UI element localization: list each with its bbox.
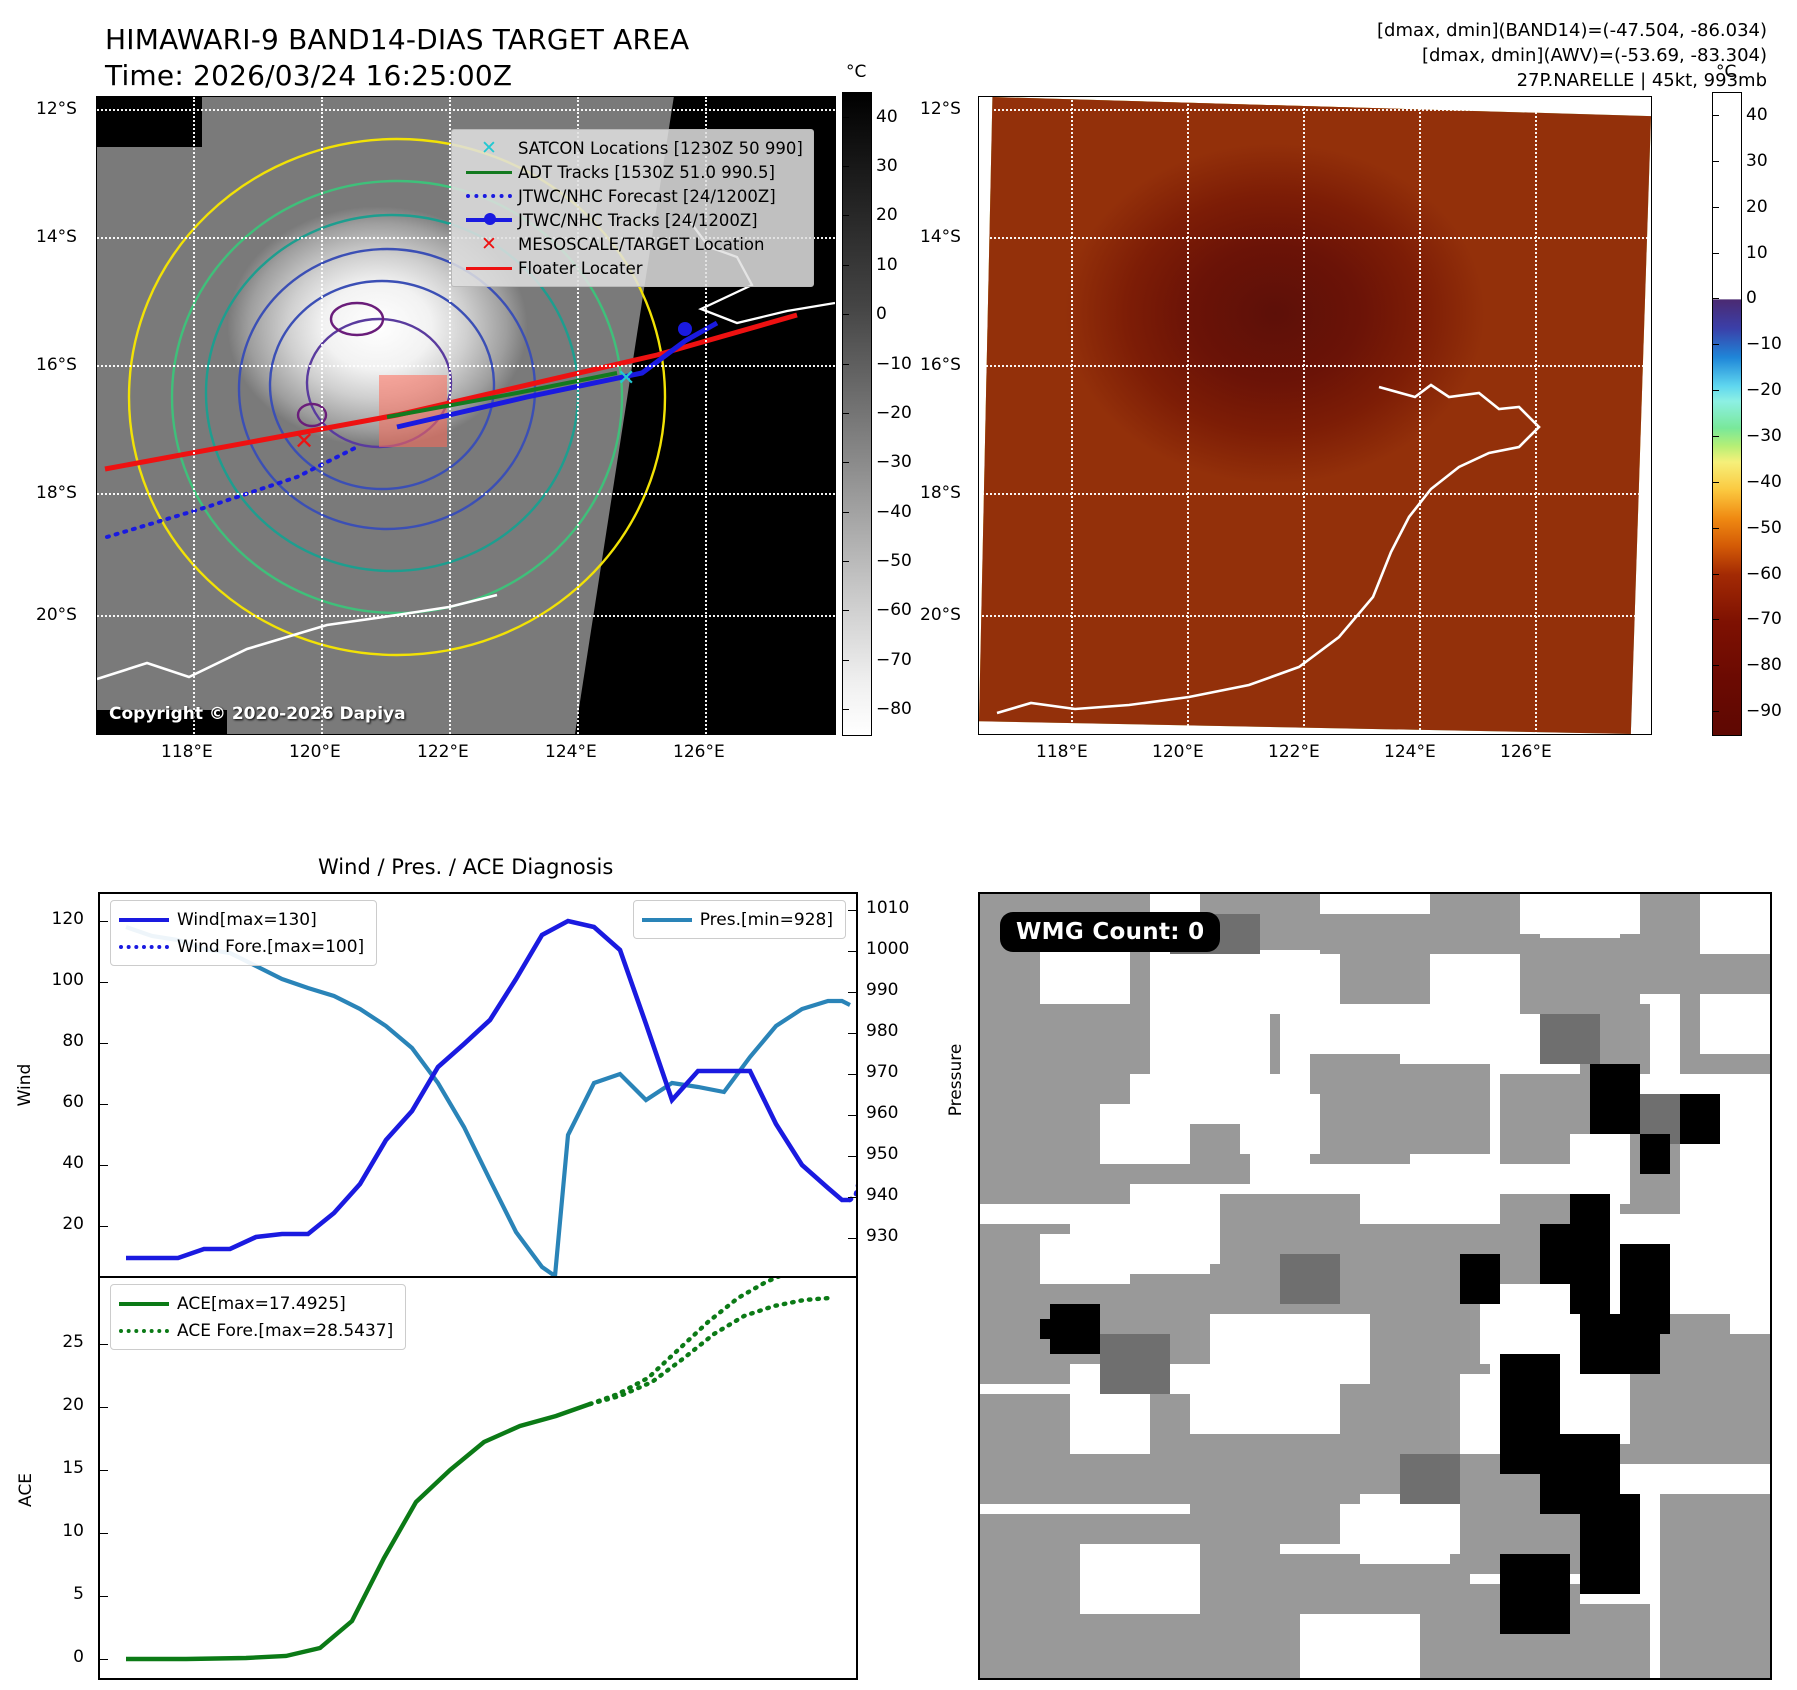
awv-cb-label: 40	[1746, 105, 1768, 125]
ir-cb-label: 0	[876, 304, 887, 324]
ace-line-icon	[119, 1302, 177, 1306]
ir-cb-label: 30	[876, 156, 898, 176]
legend-item-jtwc-forecast: JTWC/NHC Forecast [24/1200Z]	[460, 184, 803, 208]
awv-lon-tick-122e: 122°E	[1268, 742, 1320, 762]
ace-axis-label: ACE	[16, 1462, 36, 1518]
legend-item-floater: Floater Locater	[460, 256, 803, 280]
awv-cb-label: 0	[1746, 288, 1757, 308]
satcon-marker-icon: ✕	[460, 139, 518, 158]
pressure-line-icon	[642, 918, 700, 922]
awv-cb-label: −40	[1746, 472, 1782, 492]
svg-text:✕: ✕	[294, 427, 314, 455]
legend-label: SATCON Locations [1230Z 50 990]	[518, 139, 803, 158]
ir-cb-label: −60	[876, 600, 912, 620]
pres-ytick-1010: 1010	[866, 898, 909, 918]
awv-cb-label: −10	[1746, 334, 1782, 354]
ace-ytick-10: 10	[38, 1521, 84, 1541]
legend-label: ACE[max=17.4925]	[177, 1294, 346, 1314]
legend-label: Floater Locater	[518, 259, 643, 278]
awv-enhanced-map[interactable]	[978, 96, 1652, 735]
legend-item-wind-forecast: Wind Fore.[max=100]	[119, 933, 364, 960]
ace-forecast-dotted-icon	[119, 1329, 177, 1333]
awv-cb-label: 10	[1746, 243, 1768, 263]
wind-ytick-80: 80	[38, 1031, 84, 1051]
awv-cb-label: −70	[1746, 609, 1782, 629]
ir-cb-label: −30	[876, 452, 912, 472]
awv-cb-label: −50	[1746, 518, 1782, 538]
ir-colorbar-units: °C	[846, 62, 866, 82]
awv-gridline-lon-124e	[1419, 97, 1421, 734]
awv-coastline	[979, 97, 1651, 734]
awv-gridline-lat-14s	[979, 237, 1651, 239]
dmax-dmin-awv: [dmax, dmin](AWV)=(-53.69, -83.304)	[1377, 43, 1767, 68]
copyright-text: Copyright © 2020-2026 Dapiya	[109, 704, 406, 724]
pressure-legend: Pres.[min=928]	[633, 900, 846, 939]
ir-gridline-lat-18s	[97, 493, 835, 495]
pres-ytick-980: 980	[866, 1021, 898, 1041]
ir-cb-label: 20	[876, 205, 898, 225]
pres-ytick-960: 960	[866, 1103, 898, 1123]
ir-lon-tick-122e: 122°E	[417, 742, 469, 762]
ace-ytick-0: 0	[38, 1647, 84, 1667]
legend-item-ace: ACE[max=17.4925]	[119, 1290, 393, 1317]
ir-lat-tick-18s: 18°S	[36, 483, 77, 503]
ace-ytick-25: 25	[38, 1332, 84, 1352]
awv-lon-tick-126e: 126°E	[1500, 742, 1552, 762]
awv-gridline-lat-20s	[979, 615, 1651, 617]
legend-item-wind: Wind[max=130]	[119, 906, 364, 933]
ir-gridline-lat-16s	[97, 365, 835, 367]
legend-label: Wind[max=130]	[177, 910, 317, 930]
ir-cb-label: −10	[876, 354, 912, 374]
ir-gridline-lon-118e	[193, 97, 195, 734]
awv-lat-tick-18s: 18°S	[920, 483, 961, 503]
adt-line-icon	[460, 171, 518, 174]
ir-lat-tick-12s: 12°S	[36, 99, 77, 119]
ir-gridline-lat-12s	[97, 109, 835, 111]
legend-label: ADT Tracks [1530Z 51.0 990.5]	[518, 163, 775, 182]
ir-colorbar-ticks: 40 30 20 10 0 −10 −20 −30 −40 −50 −60 −7…	[842, 92, 962, 734]
ir-cb-label: −20	[876, 403, 912, 423]
map-legend: ✕ SATCON Locations [1230Z 50 990] ADT Tr…	[451, 129, 814, 287]
legend-label: Wind Fore.[max=100]	[177, 937, 364, 957]
ir-lon-tick-124e: 124°E	[545, 742, 597, 762]
header-stats: [dmax, dmin](BAND14)=(-47.504, -86.034) …	[1377, 18, 1767, 93]
pres-ytick-1000: 1000	[866, 939, 909, 959]
legend-label: JTWC/NHC Tracks [24/1200Z]	[518, 211, 758, 230]
awv-lat-tick-20s: 20°S	[920, 605, 961, 625]
awv-lat-tick-16s: 16°S	[920, 355, 961, 375]
awv-cb-label: 30	[1746, 151, 1768, 171]
ir-cb-label: −70	[876, 650, 912, 670]
legend-label: ACE Fore.[max=28.5437]	[177, 1321, 393, 1341]
pres-ytick-930: 930	[866, 1226, 898, 1246]
awv-lon-tick-118e: 118°E	[1036, 742, 1088, 762]
pres-ytick-970: 970	[866, 1062, 898, 1082]
wind-forecast-dotted-icon	[119, 945, 177, 949]
ace-ytick-15: 15	[38, 1458, 84, 1478]
ace-ytick-20: 20	[38, 1395, 84, 1415]
ace-chart[interactable]: ACE[max=17.4925] ACE Fore.[max=28.5437]	[98, 1276, 858, 1680]
legend-label: MESOSCALE/TARGET Location	[518, 235, 764, 254]
ir-lat-tick-20s: 20°S	[36, 605, 77, 625]
dmax-dmin-band14: [dmax, dmin](BAND14)=(-47.504, -86.034)	[1377, 18, 1767, 43]
wmg-imagery	[980, 894, 1770, 1678]
awv-gridline-lat-16s	[979, 365, 1651, 367]
title-line-2: Time: 2026/03/24 16:25:00Z	[105, 58, 689, 94]
ir-cb-label: −40	[876, 502, 912, 522]
legend-item-mesoscale: ✕ MESOSCALE/TARGET Location	[460, 232, 803, 256]
wind-pressure-chart[interactable]: Wind[max=130] Wind Fore.[max=100] Pres.[…	[98, 892, 858, 1278]
title-line-1: HIMAWARI-9 BAND14-DIAS TARGET AREA	[105, 22, 689, 58]
ace-ytick-5: 5	[38, 1584, 84, 1604]
legend-item-satcon: ✕ SATCON Locations [1230Z 50 990]	[460, 136, 803, 160]
legend-item-jtwc-tracks: JTWC/NHC Tracks [24/1200Z]	[460, 208, 803, 232]
pressure-axis-label: Pressure	[946, 1040, 966, 1120]
ir-lat-tick-14s: 14°S	[36, 227, 77, 247]
wind-ytick-100: 100	[38, 970, 84, 990]
ir-cb-label: −50	[876, 551, 912, 571]
awv-lat-tick-14s: 14°S	[920, 227, 961, 247]
floater-line-icon	[460, 267, 518, 270]
wind-ytick-120: 120	[38, 909, 84, 929]
page-title: HIMAWARI-9 BAND14-DIAS TARGET AREA Time:…	[105, 22, 689, 94]
ir-gridline-lon-120e	[321, 97, 323, 734]
awv-gridline-lon-126e	[1535, 97, 1537, 734]
wmg-count-badge: WMG Count: 0	[1000, 912, 1220, 952]
awv-colorbar-ticks: 40 30 20 10 0 −10 −20 −30 −40 −50 −60 −7…	[1712, 92, 1797, 734]
pres-ytick-940: 940	[866, 1185, 898, 1205]
awv-cb-label: −30	[1746, 426, 1782, 446]
ir-lon-tick-126e: 126°E	[673, 742, 725, 762]
awv-cb-label: −60	[1746, 564, 1782, 584]
legend-item-ace-forecast: ACE Fore.[max=28.5437]	[119, 1317, 393, 1344]
ir-cb-label: −80	[876, 699, 912, 719]
ir-cb-label: 40	[876, 107, 898, 127]
ir-lon-tick-120e: 120°E	[289, 742, 341, 762]
awv-gridline-lon-118e	[1071, 97, 1073, 734]
awv-lon-tick-120e: 120°E	[1152, 742, 1204, 762]
awv-cb-label: −20	[1746, 380, 1782, 400]
awv-gridline-lat-12s	[979, 109, 1651, 111]
wind-ytick-60: 60	[38, 1092, 84, 1112]
pres-ytick-950: 950	[866, 1144, 898, 1164]
svg-text:✕: ✕	[617, 366, 635, 391]
awv-lon-tick-124e: 124°E	[1384, 742, 1436, 762]
awv-cb-label: −80	[1746, 655, 1782, 675]
legend-label: Pres.[min=928]	[700, 910, 833, 930]
wind-legend: Wind[max=130] Wind Fore.[max=100]	[110, 900, 377, 966]
pres-ytick-990: 990	[866, 980, 898, 1000]
wmg-map[interactable]: WMG Count: 0	[978, 892, 1772, 1680]
ir-gridline-lat-20s	[97, 615, 835, 617]
ir-lon-tick-118e: 118°E	[161, 742, 213, 762]
track-line-dot-icon	[460, 218, 518, 222]
wind-ytick-20: 20	[38, 1214, 84, 1234]
wind-ytick-40: 40	[38, 1153, 84, 1173]
legend-item-adt: ADT Tracks [1530Z 51.0 990.5]	[460, 160, 803, 184]
mesoscale-marker-icon: ✕	[460, 235, 518, 254]
legend-label: JTWC/NHC Forecast [24/1200Z]	[518, 187, 776, 206]
awv-colorbar-units: °C	[1716, 62, 1736, 82]
awv-cb-label: −90	[1746, 701, 1782, 721]
storm-info: 27P.NARELLE | 45kt, 993mb	[1377, 68, 1767, 93]
ace-legend: ACE[max=17.4925] ACE Fore.[max=28.5437]	[110, 1284, 406, 1350]
ir-lat-tick-16s: 16°S	[36, 355, 77, 375]
awv-lat-tick-12s: 12°S	[920, 99, 961, 119]
wind-axis-label: Wind	[15, 1055, 35, 1115]
awv-gridline-lon-120e	[1187, 97, 1189, 734]
wind-line-icon	[119, 918, 177, 922]
diagnosis-title: Wind / Pres. / ACE Diagnosis	[318, 855, 613, 879]
ir-cb-label: 10	[876, 255, 898, 275]
awv-gridline-lat-18s	[979, 493, 1651, 495]
legend-item-pressure: Pres.[min=928]	[642, 906, 833, 933]
ir-satellite-map[interactable]: ✕ ✕ Copyright © 2020-2026 Dapiya ✕ SATCO…	[96, 96, 836, 735]
awv-gridline-lon-122e	[1303, 97, 1305, 734]
forecast-dotted-line-icon	[460, 194, 518, 198]
awv-cb-label: 20	[1746, 197, 1768, 217]
